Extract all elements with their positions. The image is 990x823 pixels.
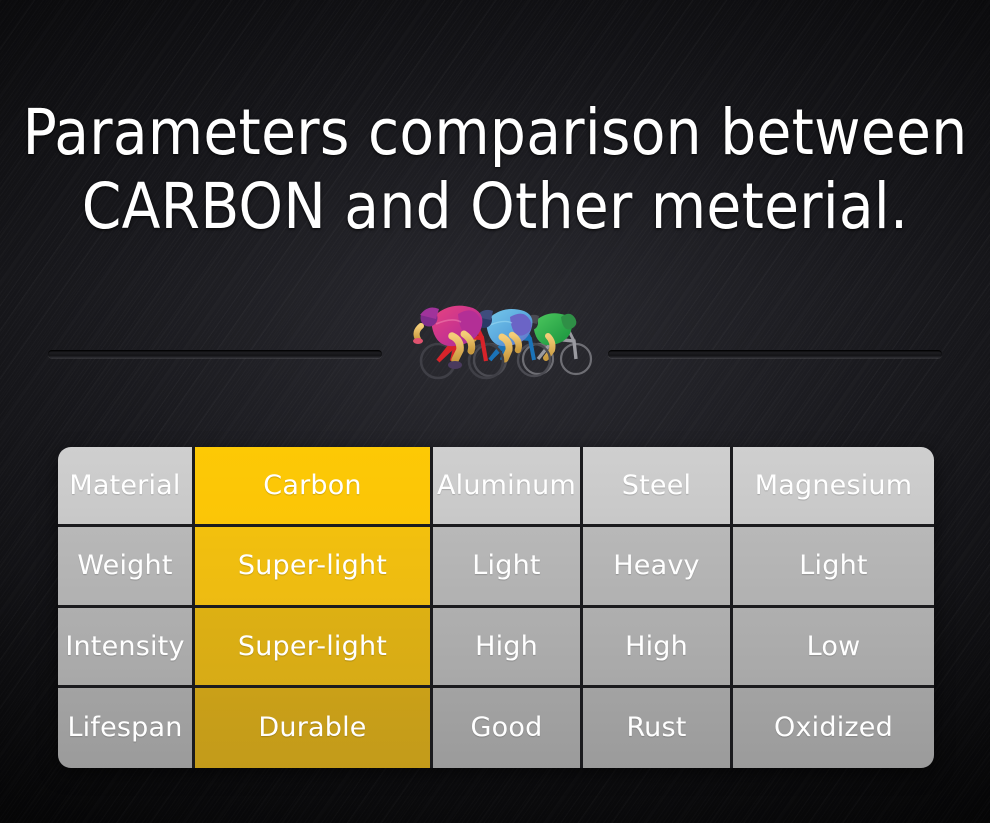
cell-material-steel: Steel (583, 447, 733, 527)
table-row: Intensity Super-light High High Low (58, 608, 934, 688)
cell-intensity-carbon: Super-light (195, 608, 433, 688)
cell-material-magnesium: Magnesium (733, 447, 934, 527)
cell-intensity-steel: High (583, 608, 733, 688)
three-cyclists-illustration (398, 281, 594, 381)
cell-lifespan-steel: Rust (583, 688, 733, 768)
cell-intensity-aluminum: High (433, 608, 583, 688)
cell-material-label: Material (58, 447, 195, 527)
cell-lifespan-aluminum: Good (433, 688, 583, 768)
table-row: Lifespan Durable Good Rust Oxidized (58, 688, 934, 768)
cell-weight-carbon: Super-light (195, 527, 433, 607)
table-row: Material Carbon Aluminum Steel Magnesium (58, 447, 934, 527)
page-title: Parameters comparison between CARBON and… (0, 96, 990, 244)
cell-weight-magnesium: Light (733, 527, 934, 607)
cell-lifespan-carbon: Durable (195, 688, 433, 768)
cell-weight-steel: Heavy (583, 527, 733, 607)
cell-material-aluminum: Aluminum (433, 447, 583, 527)
cell-material-carbon: Carbon (195, 447, 433, 527)
cell-intensity-label: Intensity (58, 608, 195, 688)
table-row: Weight Super-light Light Heavy Light (58, 527, 934, 607)
divider-rule-left (48, 350, 382, 358)
cell-intensity-magnesium: Low (733, 608, 934, 688)
cell-lifespan-label: Lifespan (58, 688, 195, 768)
cell-lifespan-magnesium: Oxidized (733, 688, 934, 768)
cell-weight-label: Weight (58, 527, 195, 607)
comparison-table: Material Carbon Aluminum Steel Magnesium… (58, 447, 934, 768)
cell-weight-aluminum: Light (433, 527, 583, 607)
slide-canvas: Parameters comparison between CARBON and… (0, 0, 990, 823)
divider-rule-right (608, 350, 942, 358)
